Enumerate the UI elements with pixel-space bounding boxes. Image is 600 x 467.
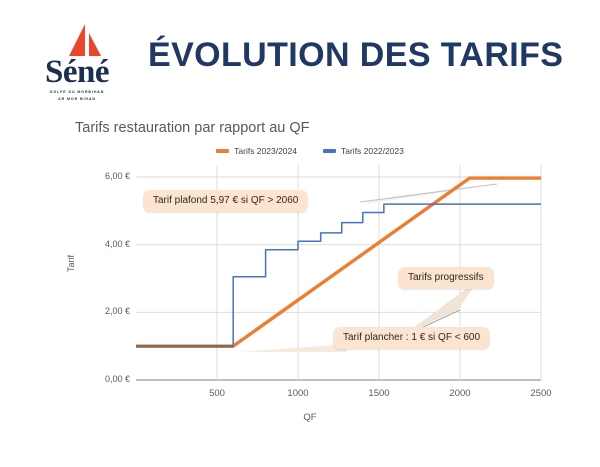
slide-header: Séné GOLFE DU MORBIHAN AR MOR BIHAN ÉVOL… bbox=[0, 0, 600, 108]
x-tick-label: 1500 bbox=[354, 388, 404, 399]
annotation-tarif-plancher: Tarif plancher : 1 € si QF < 600 bbox=[333, 327, 490, 349]
y-tick-label: 6,00 € bbox=[84, 171, 130, 181]
logo-wordmark: Séné bbox=[22, 56, 132, 89]
logo-subtitle-line2: AR MOR BIHAN bbox=[22, 97, 132, 101]
sene-logo: Séné GOLFE DU MORBIHAN AR MOR BIHAN bbox=[22, 22, 132, 102]
x-axis-title: QF bbox=[60, 412, 560, 423]
y-tick-label: 4,00 € bbox=[84, 239, 130, 249]
y-axis-title: Tarif bbox=[66, 255, 76, 272]
x-tick-label: 500 bbox=[192, 388, 242, 399]
x-tick-label: 2500 bbox=[516, 388, 566, 399]
plot-area: Tarif QF Tarif plafond 5,97 € si QF > 20… bbox=[60, 112, 560, 442]
slide-canvas: Séné GOLFE DU MORBIHAN AR MOR BIHAN ÉVOL… bbox=[0, 0, 600, 467]
annotation-tarif-plafond: Tarif plafond 5,97 € si QF > 2060 bbox=[143, 190, 308, 212]
annotation-tarifs-progressifs: Tarifs progressifs bbox=[398, 267, 494, 289]
chart-container: Tarifs restauration par rapport au QF Ta… bbox=[60, 112, 560, 442]
y-tick-label: 2,00 € bbox=[84, 306, 130, 316]
page-title: ÉVOLUTION DES TARIFS bbox=[148, 36, 563, 75]
x-tick-label: 2000 bbox=[435, 388, 485, 399]
y-tick-label: 0,00 € bbox=[84, 374, 130, 384]
logo-subtitle-line1: GOLFE DU MORBIHAN bbox=[22, 90, 132, 94]
x-tick-label: 1000 bbox=[273, 388, 323, 399]
